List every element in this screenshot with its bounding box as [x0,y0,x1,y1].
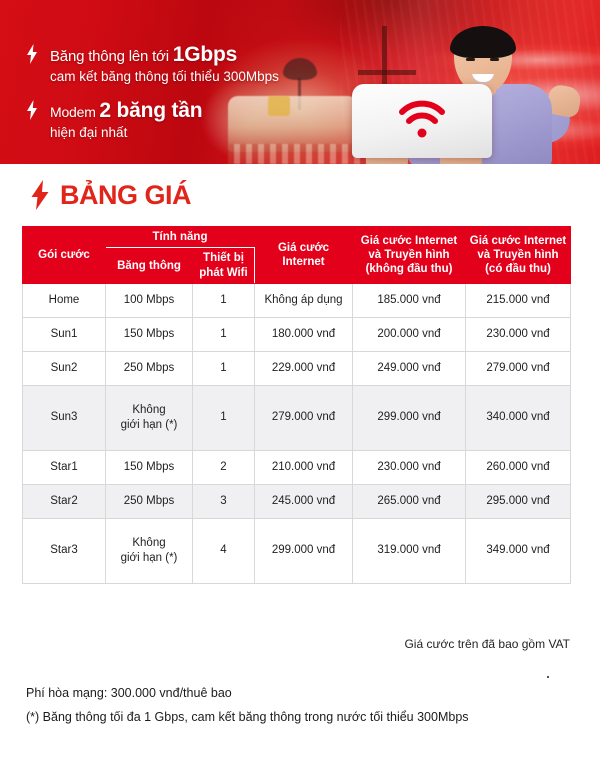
cell-internet-price: 245.000 vnđ [255,484,353,518]
footer-note-line-2: (*) Băng thông tối đa 1 Gbps, cam kết bă… [26,706,469,730]
cell-bandwidth: 250 Mbps [106,484,193,518]
bullet-1-highlight: 1Gbps [173,43,237,66]
cell-package: Sun1 [23,318,106,352]
cell-internet-price: 299.000 vnđ [255,518,353,583]
wifi-icon [398,100,446,140]
cell-tv-with-receiver: 295.000 vnđ [466,484,571,518]
th-features-group: Tính năng [106,227,255,248]
cell-internet-price: 180.000 vnđ [255,318,353,352]
cell-wifi-device: 1 [193,385,255,450]
cell-tv-no-receiver: 249.000 vnđ [353,352,466,386]
table-row: Home100 Mbps1Không áp dụng185.000 vnđ215… [23,284,571,318]
bullet-1-line1-prefix: Băng thông lên tới [50,48,173,65]
cell-bandwidth: 150 Mbps [106,450,193,484]
cell-bandwidth: Không giới hạn (*) [106,518,193,583]
cell-internet-price: 229.000 vnđ [255,352,353,386]
cell-bandwidth: 100 Mbps [106,284,193,318]
page-title: BẢNG GIÁ [60,182,191,209]
cell-bandwidth: 250 Mbps [106,352,193,386]
cell-wifi-device: 2 [193,450,255,484]
lightning-bolt-icon [30,180,50,210]
banner-bullet-2: Modem 2 băng tần hiện đại nhất [26,98,202,141]
banner-bullet-1: Băng thông lên tới 1Gbps cam kết băng th… [26,42,279,85]
bullet-2-line2: hiện đại nhất [50,125,202,141]
cell-tv-no-receiver: 230.000 vnđ [353,450,466,484]
cell-wifi-device: 1 [193,352,255,386]
th-bandwidth: Băng thông [106,248,193,284]
cell-internet-price: Không áp dụng [255,284,353,318]
table-row: Star1150 Mbps2210.000 vnđ230.000 vnđ260.… [23,450,571,484]
section-title-row: BẢNG GIÁ [30,180,191,210]
table-header-row-1: Gói cước Tính năng Giá cước Internet Giá… [23,227,571,248]
th-internet-tv-no-receiver: Giá cước Internet và Truyền hình (không … [353,227,466,284]
lightning-bolt-icon [26,100,38,120]
cell-tv-with-receiver: 279.000 vnđ [466,352,571,386]
table-head: Gói cước Tính năng Giá cước Internet Giá… [23,227,571,284]
person-left-eye [466,58,475,61]
cell-tv-with-receiver: 340.000 vnđ [466,385,571,450]
cell-package: Star2 [23,484,106,518]
cell-package: Home [23,284,106,318]
footer-notes: Phí hòa mạng: 300.000 vnđ/thuê bao (*) B… [26,682,469,730]
cell-tv-with-receiver: 260.000 vnđ [466,450,571,484]
cell-wifi-device: 1 [193,284,255,318]
lightning-bolt-icon [26,44,38,64]
cell-tv-with-receiver: 349.000 vnđ [466,518,571,583]
cell-package: Star3 [23,518,106,583]
cell-bandwidth: Không giới hạn (*) [106,385,193,450]
th-internet-price: Giá cước Internet [255,227,353,284]
cell-bandwidth: 150 Mbps [106,318,193,352]
bullet-2-line1-prefix: Modem [50,104,99,120]
cell-tv-no-receiver: 265.000 vnđ [353,484,466,518]
cell-package: Sun3 [23,385,106,450]
person-right-eye [490,58,499,61]
cell-tv-with-receiver: 230.000 vnđ [466,318,571,352]
banner-text-block: Băng thông lên tới 1Gbps cam kết băng th… [0,0,360,164]
th-internet-tv-with-receiver: Giá cước Internet và Truyền hình (có đầu… [466,227,571,284]
cell-tv-no-receiver: 185.000 vnđ [353,284,466,318]
th-package: Gói cước [23,227,106,284]
cell-internet-price: 279.000 vnđ [255,385,353,450]
laptop-illustration [352,84,492,158]
stray-dot-mark [547,676,549,678]
bullet-2-highlight: 2 băng tần [99,99,202,122]
cell-package: Sun2 [23,352,106,386]
cell-package: Star1 [23,450,106,484]
vat-note: Giá cước trên đã bao gồm VAT [404,637,570,651]
cell-tv-no-receiver: 200.000 vnđ [353,318,466,352]
footer-note-line-1: Phí hòa mạng: 300.000 vnđ/thuê bao [26,682,469,706]
table-row: Sun3Không giới hạn (*)1279.000 vnđ299.00… [23,385,571,450]
cell-tv-no-receiver: 299.000 vnđ [353,385,466,450]
cell-tv-with-receiver: 215.000 vnđ [466,284,571,318]
table-body: Home100 Mbps1Không áp dụng185.000 vnđ215… [23,284,571,583]
cell-wifi-device: 4 [193,518,255,583]
th-wifi-device: Thiết bị phát Wifi [193,248,255,284]
promo-banner: Băng thông lên tới 1Gbps cam kết băng th… [0,0,600,164]
table-row: Star2250 Mbps3245.000 vnđ265.000 vnđ295.… [23,484,571,518]
cell-wifi-device: 1 [193,318,255,352]
table-row: Sun1150 Mbps1180.000 vnđ200.000 vnđ230.0… [23,318,571,352]
cell-wifi-device: 3 [193,484,255,518]
person-hair [450,26,516,58]
cell-internet-price: 210.000 vnđ [255,450,353,484]
bullet-1-line2: cam kết băng thông tối thiểu 300Mbps [50,69,279,85]
cell-tv-no-receiver: 319.000 vnđ [353,518,466,583]
table-row: Star3Không giới hạn (*)4299.000 vnđ319.0… [23,518,571,583]
price-table: Gói cước Tính năng Giá cước Internet Giá… [22,226,571,584]
table-row: Sun2250 Mbps1229.000 vnđ249.000 vnđ279.0… [23,352,571,386]
